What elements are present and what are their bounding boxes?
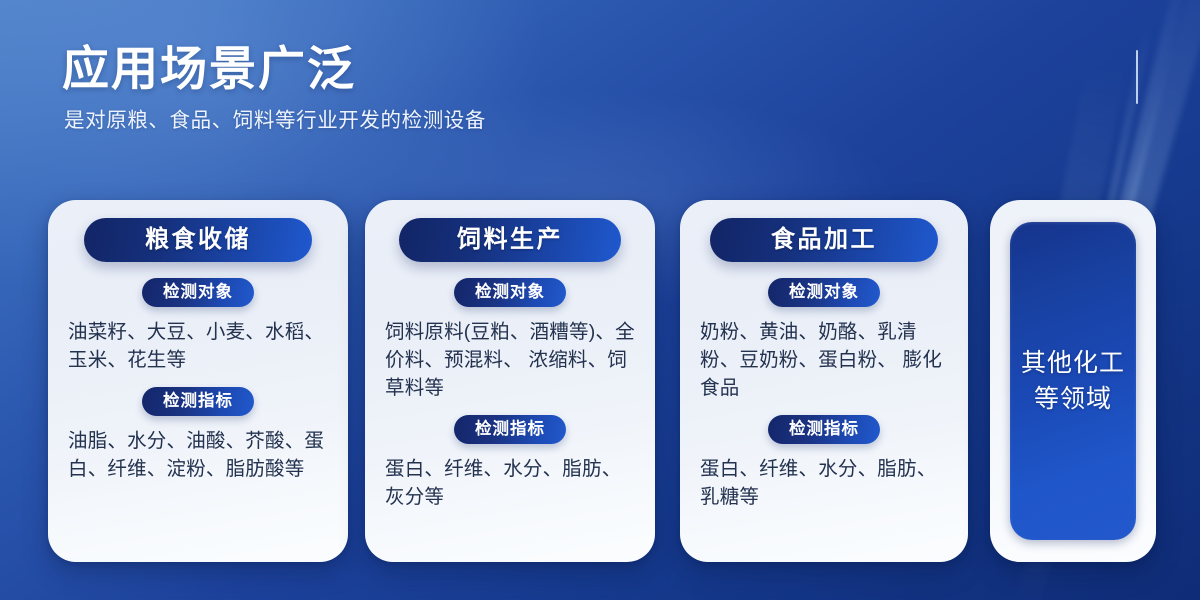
- scenario-card-food-processing[interactable]: 食品加工 检测对象 奶粉、黄油、奶酪、乳清粉、豆奶粉、蛋白粉、 膨化食品 检测指…: [680, 200, 968, 562]
- header-vertical-rule: [1136, 50, 1138, 104]
- scenario-card-grain-storage[interactable]: 粮食收储 检测对象 油菜籽、大豆、小麦、水稻、玉米、花生等 检测指标 油脂、水分…: [48, 200, 348, 562]
- badge-label: 检测对象: [789, 284, 859, 301]
- page-subtitle: 是对原粮、食品、饲料等行业开发的检测设备: [64, 107, 962, 135]
- detection-index-text: 油脂、水分、油酸、芥酸、蛋白、纤维、淀粉、脂肪酸等: [68, 427, 328, 483]
- detection-target-text: 奶粉、黄油、奶酪、乳清粉、豆奶粉、蛋白粉、 膨化食品: [700, 318, 948, 402]
- badge-label: 检测指标: [475, 421, 545, 438]
- page-title: 应用场景广泛: [62, 40, 962, 98]
- badge-label: 检测指标: [789, 421, 859, 438]
- badge-detection-target: 检测对象: [768, 278, 880, 307]
- detection-index-text: 蛋白、纤维、水分、脂肪、乳糖等: [700, 455, 948, 511]
- detection-target-text: 饲料原料(豆粕、酒糟等)、全价料、预混料、 浓缩料、饲草料等: [385, 318, 635, 402]
- scenario-card-other-chemical[interactable]: 其他化工 等领域: [990, 200, 1156, 562]
- card-header-pill: 饲料生产: [399, 218, 621, 262]
- badge-detection-target: 检测对象: [454, 278, 566, 307]
- badge-detection-index: 检测指标: [768, 415, 880, 444]
- badge-label: 检测指标: [163, 393, 233, 410]
- card-title: 饲料生产: [457, 228, 563, 252]
- other-field-label: 其他化工 等领域: [1021, 345, 1125, 417]
- badge-label: 检测对象: [163, 284, 233, 301]
- header: 应用场景广泛 是对原粮、食品、饲料等行业开发的检测设备: [62, 40, 962, 135]
- scenario-card-feed-production[interactable]: 饲料生产 检测对象 饲料原料(豆粕、酒糟等)、全价料、预混料、 浓缩料、饲草料等…: [365, 200, 655, 562]
- detection-target-text: 油菜籽、大豆、小麦、水稻、玉米、花生等: [68, 318, 328, 374]
- scenario-card-row: 粮食收储 检测对象 油菜籽、大豆、小麦、水稻、玉米、花生等 检测指标 油脂、水分…: [0, 200, 1200, 565]
- badge-label: 检测对象: [475, 284, 545, 301]
- badge-detection-index: 检测指标: [142, 387, 254, 416]
- card-header-pill: 食品加工: [710, 218, 938, 262]
- card-header-pill: 粮食收储: [84, 218, 312, 262]
- detection-index-text: 蛋白、纤维、水分、脂肪、灰分等: [385, 455, 635, 511]
- slide-canvas: 应用场景广泛 是对原粮、食品、饲料等行业开发的检测设备 粮食收储 检测对象 油菜…: [0, 0, 1200, 600]
- other-field-panel: 其他化工 等领域: [1010, 222, 1136, 540]
- card-title: 食品加工: [771, 228, 877, 252]
- badge-detection-index: 检测指标: [454, 415, 566, 444]
- badge-detection-target: 检测对象: [142, 278, 254, 307]
- card-title: 粮食收储: [145, 228, 251, 252]
